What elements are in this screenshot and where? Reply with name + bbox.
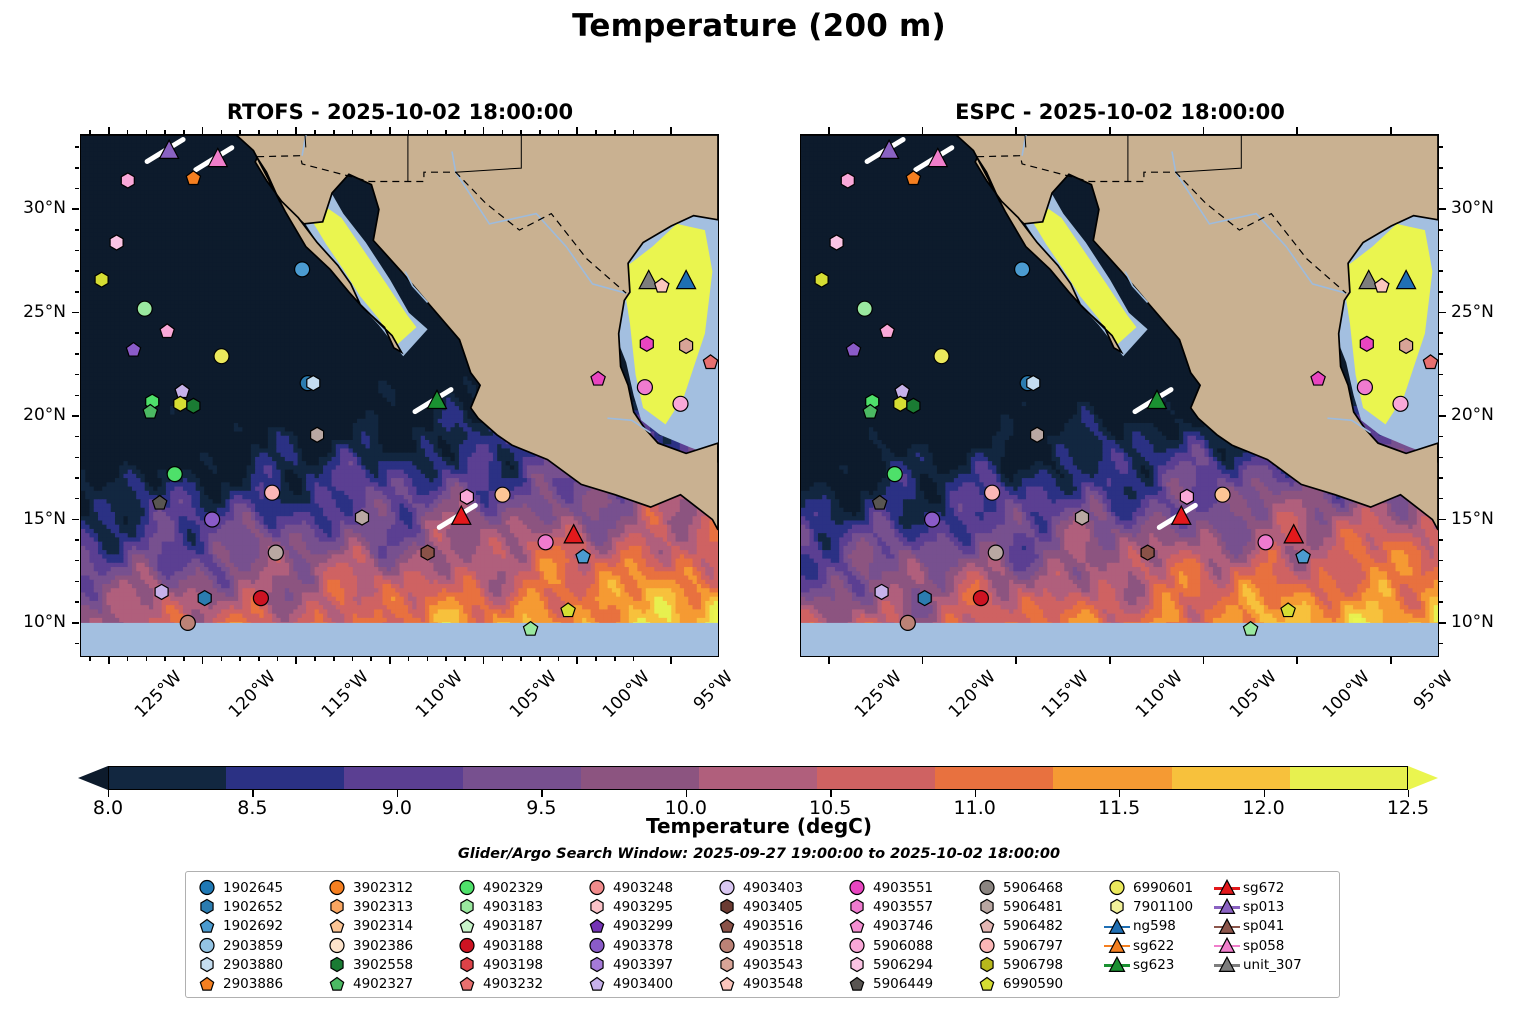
y-minor-tick <box>75 539 79 541</box>
x-minor-tick <box>633 130 635 134</box>
marker-4903400 <box>875 584 888 599</box>
marker-5906481 <box>268 545 283 560</box>
x-minor-tick <box>539 657 541 661</box>
legend-item[interactable]: ng598 <box>1104 917 1193 936</box>
y-minor-tick <box>75 560 79 562</box>
marker-6990590 <box>174 396 187 411</box>
legend-item[interactable]: 5906294 <box>844 955 933 974</box>
legend-label: 5906449 <box>873 976 933 992</box>
colorbar-segment <box>1172 766 1291 790</box>
legend-label: 3902314 <box>353 918 413 934</box>
y-minor-tick <box>75 146 79 148</box>
y-minor-tick <box>75 229 79 231</box>
legend-item[interactable]: 3902314 <box>324 917 413 936</box>
legend-item[interactable]: 4903516 <box>714 917 803 936</box>
x-minor-tick <box>146 657 148 661</box>
legend-item[interactable]: 4903543 <box>714 955 803 974</box>
x-tick-label: 105°W <box>506 667 561 722</box>
legend-marker-7901100 <box>1104 897 1130 916</box>
legend-item[interactable]: sp013 <box>1214 897 1302 916</box>
legend-item[interactable]: sp041 <box>1214 917 1302 936</box>
y-minor-tick <box>75 477 79 479</box>
legend-marker-1902652 <box>194 897 220 916</box>
y-tick <box>1439 312 1446 314</box>
x-tick-label: 120°W <box>225 667 280 722</box>
legend-marker-4903548 <box>714 975 740 994</box>
legend-item[interactable]: 5906449 <box>844 974 933 993</box>
y-minor-tick <box>75 581 79 583</box>
panel-title-espc: ESPC - 2025-10-02 18:00:00 <box>800 100 1440 124</box>
marker-4903518 <box>900 615 915 630</box>
x-minor-tick <box>558 130 560 134</box>
legend-marker-4902329 <box>454 878 480 897</box>
y-minor-tick <box>1439 581 1443 583</box>
legend-marker-4903400 <box>584 975 610 994</box>
legend-item[interactable]: 6990601 <box>1104 878 1193 897</box>
y-tick-label: 30°N <box>1451 198 1494 218</box>
legend-marker-5906294 <box>844 955 870 974</box>
x-tick-label: 95°W <box>1410 667 1457 714</box>
x-minor-tick <box>258 657 260 661</box>
legend-label: 5906481 <box>1003 899 1063 915</box>
legend-label: sp013 <box>1243 899 1284 915</box>
y-minor-tick <box>1439 374 1443 376</box>
y-minor-tick <box>1439 436 1443 438</box>
legend-item[interactable]: 2903880 <box>194 955 283 974</box>
legend-label: sp041 <box>1243 918 1284 934</box>
legend-item[interactable]: 4903248 <box>584 878 673 897</box>
legend-item[interactable]: 3902312 <box>324 878 413 897</box>
x-minor-tick <box>314 130 316 134</box>
legend-item[interactable]: 4902327 <box>324 974 413 993</box>
legend-item[interactable]: 1902692 <box>194 917 283 936</box>
legend-item[interactable]: sg622 <box>1104 936 1193 955</box>
map-espc[interactable] <box>800 134 1439 657</box>
legend-item[interactable]: 1902652 <box>194 897 283 916</box>
x-minor-tick <box>352 130 354 134</box>
legend-label: sp058 <box>1243 938 1284 954</box>
legend-marker-4903551 <box>844 878 870 897</box>
legend-item[interactable]: 1902645 <box>194 878 283 897</box>
colorbar-segment <box>226 766 345 790</box>
marker-4903188 <box>973 591 988 606</box>
legend-label: 6990590 <box>1003 976 1063 992</box>
x-minor-tick <box>221 657 223 661</box>
colorbar-title: Temperature (degC) <box>0 814 1518 838</box>
y-minor-tick <box>75 498 79 500</box>
x-minor-tick <box>370 130 372 134</box>
marker-4903378 <box>205 512 220 527</box>
legend-marker-4903543 <box>714 955 740 974</box>
legend-item[interactable]: 4902329 <box>454 878 543 897</box>
legend-item[interactable]: 4903403 <box>714 878 803 897</box>
legend-column: 3902312390231339023143902386390255849023… <box>324 878 413 994</box>
y-minor-tick <box>1439 167 1443 169</box>
colorbar-tick <box>108 790 109 797</box>
legend-label: 3902386 <box>353 938 413 954</box>
x-tick <box>922 657 924 664</box>
x-tick-label: 125°W <box>851 667 906 722</box>
y-minor-tick <box>1439 560 1443 562</box>
x-tick <box>483 657 485 664</box>
legend-label: 5906088 <box>873 938 933 954</box>
x-minor-tick <box>239 130 241 134</box>
colorbar-segment <box>108 766 227 790</box>
legend-marker-4903295 <box>584 897 610 916</box>
legend-item[interactable]: 4903551 <box>844 878 933 897</box>
colorbar-tick <box>1119 790 1120 797</box>
colorbar-tick <box>1408 790 1409 797</box>
y-minor-tick <box>1439 250 1443 252</box>
x-tick-label: 115°W <box>318 667 373 722</box>
legend-item[interactable]: 4903548 <box>714 974 803 993</box>
x-minor-tick <box>127 657 129 661</box>
legend-item[interactable]: 5906481 <box>974 897 1063 916</box>
x-minor-tick <box>614 130 616 134</box>
legend-label: 2903880 <box>223 957 283 973</box>
x-tick <box>108 127 110 134</box>
legend-column: 4903403490340549035164903518490354349035… <box>714 878 803 994</box>
legend-marker-6990590 <box>974 975 1000 994</box>
x-tick <box>389 127 391 134</box>
legend-label: 2903886 <box>223 976 283 992</box>
x-tick <box>670 657 672 664</box>
x-minor-tick <box>614 657 616 661</box>
colorbar-under-arrow <box>78 766 108 790</box>
y-minor-tick <box>1439 601 1443 603</box>
colorbar-segment <box>817 766 936 790</box>
legend-item[interactable]: 4903299 <box>584 917 673 936</box>
legend-item[interactable]: 3902558 <box>324 955 413 974</box>
x-tick <box>922 127 924 134</box>
y-tick <box>72 415 79 417</box>
x-tick-label: 115°W <box>1038 667 1093 722</box>
legend-item[interactable]: 4903405 <box>714 897 803 916</box>
legend-item[interactable]: 4903397 <box>584 955 673 974</box>
colorbar-tick <box>1264 790 1265 797</box>
legend-column: 4903551490355749037465906088590629459064… <box>844 878 933 994</box>
marker-4903183 <box>137 301 152 316</box>
map-rtofs[interactable] <box>80 134 719 657</box>
marker-5906797 <box>985 485 1000 500</box>
x-minor-tick <box>595 130 597 134</box>
marker-4903551 <box>1360 336 1373 351</box>
legend-item[interactable]: 2903886 <box>194 974 283 993</box>
y-minor-tick <box>75 436 79 438</box>
legend-label: 4903198 <box>483 957 543 973</box>
y-minor-tick <box>75 250 79 252</box>
x-tick <box>202 127 204 134</box>
marker-2903880 <box>1027 376 1040 391</box>
x-minor-tick <box>164 657 166 661</box>
colorbar-tick <box>830 790 831 797</box>
y-tick-label: 20°N <box>1451 405 1494 425</box>
legend-item[interactable]: unit_307 <box>1214 955 1302 974</box>
legend-column: 1902645190265219026922903859290388029038… <box>194 878 283 994</box>
x-tick <box>1390 657 1392 664</box>
y-minor-tick <box>1439 291 1443 293</box>
legend-marker-6990601 <box>1104 878 1130 897</box>
marker-5906481 <box>311 427 324 442</box>
y-minor-tick <box>1439 188 1443 190</box>
legend-marker-2903880 <box>194 955 220 974</box>
colorbar-segment <box>463 766 582 790</box>
legend-label: 6990601 <box>1133 880 1193 896</box>
legend-label: 4903183 <box>483 899 543 915</box>
x-tick <box>108 657 110 664</box>
x-minor-tick <box>520 130 522 134</box>
marker-6990601 <box>214 349 229 364</box>
legend-item[interactable]: 5906468 <box>974 878 1063 897</box>
legend-item[interactable]: 4903198 <box>454 955 543 974</box>
platform-legend[interactable]: 1902645190265219026922903859290388029038… <box>185 871 1340 998</box>
marker-3902558 <box>907 398 920 413</box>
marker-1902652 <box>198 591 211 606</box>
y-minor-tick <box>75 353 79 355</box>
legend-marker-5906449 <box>844 975 870 994</box>
panel-title-rtofs: RTOFS - 2025-10-02 18:00:00 <box>80 100 720 124</box>
y-tick-label: 15°N <box>1451 509 1494 529</box>
x-tick-label: 110°W <box>412 667 467 722</box>
marker-5906088 <box>1180 489 1193 504</box>
marker-5906481 <box>1076 510 1089 525</box>
x-minor-tick <box>127 130 129 134</box>
marker-1902692 <box>295 262 310 277</box>
colorbar-segment <box>935 766 1054 790</box>
x-minor-tick <box>464 657 466 661</box>
legend-label: 4903516 <box>743 918 803 934</box>
x-minor-tick <box>633 657 635 661</box>
y-minor-tick <box>75 601 79 603</box>
legend-item[interactable]: 5906482 <box>974 917 1063 936</box>
legend-marker-4903183 <box>454 897 480 916</box>
legend-column: 4903248490329549032994903378490339749034… <box>584 878 673 994</box>
legend-marker-5906481 <box>974 897 1000 916</box>
colorbar-segment <box>1053 766 1172 790</box>
legend-item[interactable]: 4903183 <box>454 897 543 916</box>
legend-item[interactable]: 4903746 <box>844 917 933 936</box>
y-tick-label: 15°N <box>0 509 66 529</box>
x-tick-label: 95°W <box>690 667 737 714</box>
marker-1902652 <box>918 591 931 606</box>
x-minor-tick <box>427 130 429 134</box>
legend-item[interactable]: 3902313 <box>324 897 413 916</box>
legend-marker-4903299 <box>584 917 610 936</box>
legend-marker-4903378 <box>584 936 610 955</box>
marker-5906481 <box>356 510 369 525</box>
y-tick <box>1439 622 1446 624</box>
marker-5906797 <box>265 485 280 500</box>
legend-label: unit_307 <box>1243 957 1302 973</box>
legend-item[interactable]: 4903400 <box>584 974 673 993</box>
marker-4903188 <box>253 591 268 606</box>
x-minor-tick <box>427 657 429 661</box>
marker-3902314 <box>1215 487 1230 502</box>
legend-item[interactable]: 5906088 <box>844 936 933 955</box>
legend-item[interactable]: 4903188 <box>454 936 543 955</box>
marker-6990590 <box>894 396 907 411</box>
marker-5906481 <box>1031 427 1044 442</box>
legend-label: 4903187 <box>483 918 543 934</box>
legend-marker-5906797 <box>974 936 1000 955</box>
legend-item[interactable]: 4903378 <box>584 936 673 955</box>
marker-4903183 <box>857 301 872 316</box>
legend-marker-4903557 <box>844 897 870 916</box>
legend-marker-3902558 <box>324 955 350 974</box>
y-minor-tick <box>1439 229 1443 231</box>
marker-4903543 <box>680 338 693 353</box>
legend-marker-sp058 <box>1214 936 1240 955</box>
search-window-caption: Glider/Argo Search Window: 2025-09-27 19… <box>0 846 1518 862</box>
x-minor-tick <box>445 130 447 134</box>
x-tick <box>202 657 204 664</box>
legend-label: 5906798 <box>1003 957 1063 973</box>
y-minor-tick <box>1439 643 1443 645</box>
y-tick <box>72 208 79 210</box>
legend-label: 3902313 <box>353 899 413 915</box>
x-tick <box>576 657 578 664</box>
colorbar-tick <box>541 790 542 797</box>
legend-marker-ng598 <box>1104 917 1130 936</box>
legend-item[interactable]: 4903518 <box>714 936 803 955</box>
legend-item[interactable]: 7901100 <box>1104 897 1193 916</box>
legend-marker-4903405 <box>714 897 740 916</box>
legend-marker-5906468 <box>974 878 1000 897</box>
legend-label: 4903400 <box>613 976 673 992</box>
y-tick-label: 10°N <box>1451 612 1494 632</box>
legend-column: 69906017901100ng598sg622sg623 <box>1104 878 1193 974</box>
y-minor-tick <box>1439 353 1443 355</box>
x-tick <box>670 127 672 134</box>
y-tick-label: 10°N <box>0 612 66 632</box>
legend-marker-2903886 <box>194 975 220 994</box>
legend-item[interactable]: sp058 <box>1214 936 1302 955</box>
x-minor-tick <box>183 130 185 134</box>
x-minor-tick <box>89 657 91 661</box>
marker-2903880 <box>307 376 320 391</box>
y-minor-tick <box>1439 395 1443 397</box>
legend-marker-sp041 <box>1214 917 1240 936</box>
legend-item[interactable]: 5906798 <box>974 955 1063 974</box>
x-minor-tick <box>502 130 504 134</box>
y-tick <box>72 312 79 314</box>
legend-label: 4903188 <box>483 938 543 954</box>
legend-item[interactable]: 4903557 <box>844 897 933 916</box>
legend-label: 4902329 <box>483 880 543 896</box>
marker-5906294 <box>110 235 123 250</box>
x-minor-tick <box>239 657 241 661</box>
colorbar-tick <box>252 790 253 797</box>
marker-3902314 <box>495 487 510 502</box>
y-minor-tick <box>75 332 79 334</box>
colorbar-segment <box>344 766 463 790</box>
y-tick <box>1439 519 1446 521</box>
x-tick <box>576 127 578 134</box>
x-tick <box>1015 127 1017 134</box>
legend-marker-3902386 <box>324 936 350 955</box>
x-minor-tick <box>333 130 335 134</box>
x-tick <box>295 127 297 134</box>
legend-label: 4903378 <box>613 938 673 954</box>
marker-1902692 <box>1015 262 1030 277</box>
legend-marker-3902312 <box>324 878 350 897</box>
legend-marker-3902314 <box>324 917 350 936</box>
marker-5906294 <box>830 235 843 250</box>
colorbar-segment <box>1290 766 1409 790</box>
x-tick-label: 100°W <box>599 667 654 722</box>
legend-item[interactable]: 4903295 <box>584 897 673 916</box>
legend-marker-4903403 <box>714 878 740 897</box>
y-minor-tick <box>75 395 79 397</box>
legend-item[interactable]: 4903187 <box>454 917 543 936</box>
legend-marker-4903188 <box>454 936 480 955</box>
x-tick <box>1296 127 1298 134</box>
x-tick <box>483 127 485 134</box>
marker-6990601 <box>934 349 949 364</box>
x-tick-label: 120°W <box>945 667 1000 722</box>
legend-item[interactable]: 2903859 <box>194 936 283 955</box>
legend-label: sg623 <box>1133 957 1174 973</box>
figure-suptitle: Temperature (200 m) <box>0 8 1518 44</box>
legend-item[interactable]: 3902386 <box>324 936 413 955</box>
x-minor-tick <box>370 657 372 661</box>
marker-5906088 <box>1393 396 1408 411</box>
legend-label: 1902652 <box>223 899 283 915</box>
y-tick <box>72 519 79 521</box>
colorbar-tick <box>397 790 398 797</box>
x-minor-tick <box>183 657 185 661</box>
legend-label: 4903248 <box>613 880 673 896</box>
legend-marker-1902645 <box>194 878 220 897</box>
colorbar-over-arrow <box>1408 766 1438 790</box>
y-tick <box>1439 208 1446 210</box>
y-tick-label: 20°N <box>0 405 66 425</box>
marker-4903557 <box>637 380 652 395</box>
legend-marker-sg622 <box>1104 936 1130 955</box>
y-tick-label: 30°N <box>0 198 66 218</box>
marker-4903378 <box>925 512 940 527</box>
legend-item[interactable]: sg623 <box>1104 955 1193 974</box>
x-tick <box>1015 657 1017 664</box>
legend-label: 4903403 <box>743 880 803 896</box>
marker-5906088 <box>460 489 473 504</box>
legend-marker-4903248 <box>584 878 610 897</box>
x-tick <box>828 127 830 134</box>
marker-4902329 <box>887 467 902 482</box>
legend-marker-sp013 <box>1214 897 1240 916</box>
x-minor-tick <box>314 657 316 661</box>
y-minor-tick <box>75 270 79 272</box>
legend-item[interactable]: 5906797 <box>974 936 1063 955</box>
y-minor-tick <box>1439 539 1443 541</box>
legend-item[interactable]: 6990590 <box>974 974 1063 993</box>
x-minor-tick <box>502 657 504 661</box>
x-minor-tick <box>539 130 541 134</box>
legend-item[interactable]: sg672 <box>1214 878 1302 897</box>
marker-4903518 <box>180 615 195 630</box>
legend-marker-sg672 <box>1214 878 1240 897</box>
x-minor-tick <box>595 657 597 661</box>
x-minor-tick <box>520 657 522 661</box>
x-tick <box>1109 657 1111 664</box>
legend-item[interactable]: 4903232 <box>454 974 543 993</box>
x-tick-label: 110°W <box>1132 667 1187 722</box>
y-minor-tick <box>1439 498 1443 500</box>
y-minor-tick <box>75 643 79 645</box>
x-minor-tick <box>89 130 91 134</box>
legend-marker-5906482 <box>974 917 1000 936</box>
marker-4903543 <box>1400 338 1413 353</box>
